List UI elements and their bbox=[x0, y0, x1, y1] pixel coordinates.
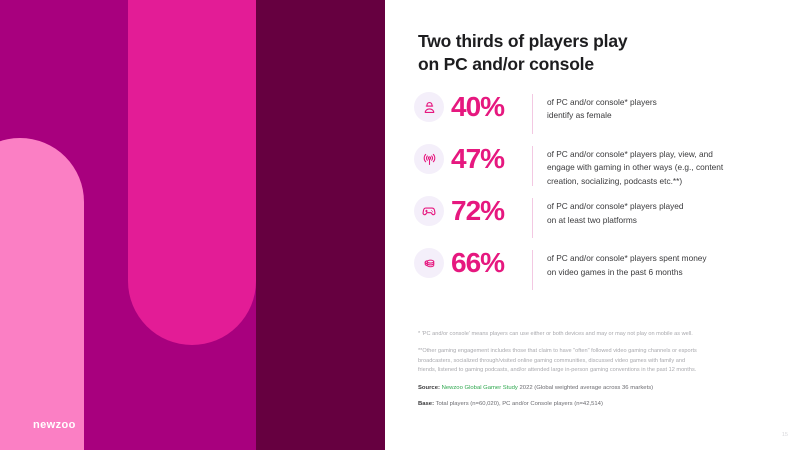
base-detail: Total players (n=60,020), PC and/or Cons… bbox=[436, 401, 603, 407]
page-number: 15 bbox=[782, 432, 788, 438]
stat-value-group: 47% bbox=[414, 144, 532, 174]
base-line: Base: Total players (n=60,020), PC and/o… bbox=[418, 399, 790, 409]
stat-description-line-1: of PC and/or console* players played bbox=[547, 200, 784, 213]
footnote-asterisk: * 'PC and/or console' means players can … bbox=[418, 330, 790, 340]
art-band-plum bbox=[256, 0, 385, 450]
source-line: Source: Newzoo Global Gamer Study 2022 (… bbox=[418, 383, 790, 393]
stat-description-line-2: identify as female bbox=[547, 109, 784, 122]
newzoo-logo: newzoo bbox=[33, 419, 76, 431]
stat-description-line-1: of PC and/or console* players spent mone… bbox=[547, 252, 784, 265]
stat-description: of PC and/or console* players played on … bbox=[547, 196, 784, 227]
stat-divider bbox=[532, 146, 533, 186]
source-detail: 2022 (Global weighted average across 36 … bbox=[520, 385, 654, 391]
stat-description: of PC and/or console* players identify a… bbox=[547, 92, 784, 123]
stat-list: 40% of PC and/or console* players identi… bbox=[414, 92, 784, 292]
female-player-icon bbox=[414, 92, 444, 122]
page-title: Two thirds of players play on PC and/or … bbox=[418, 30, 773, 77]
content-panel: Two thirds of players play on PC and/or … bbox=[385, 0, 800, 450]
source-link[interactable]: Newzoo Global Gamer Study bbox=[442, 385, 518, 391]
stat-row: 47% of PC and/or console* players play, … bbox=[414, 144, 784, 188]
stat-value-group: 72% bbox=[414, 196, 532, 226]
page-title-line-1: Two thirds of players play bbox=[418, 30, 773, 53]
decorative-artwork: newzoo bbox=[0, 0, 385, 450]
stat-description-line-2: on at least two platforms bbox=[547, 214, 784, 227]
stat-description-line-2: engage with gaming in other ways (e.g., … bbox=[547, 161, 784, 174]
stat-value: 40% bbox=[451, 93, 504, 121]
art-pill-bright-shape bbox=[128, 0, 256, 345]
base-label: Base: bbox=[418, 401, 434, 407]
page-title-line-2: on PC and/or console bbox=[418, 53, 773, 76]
source-label: Source: bbox=[418, 385, 440, 391]
slide: newzoo Two thirds of players play on PC … bbox=[0, 0, 800, 450]
stat-description-line-3: creation, socializing, podcasts etc.**) bbox=[547, 175, 784, 188]
stat-row: 72% of PC and/or console* players played… bbox=[414, 196, 784, 240]
stat-description-line-2: on video games in the past 6 months bbox=[547, 266, 784, 279]
stat-divider bbox=[532, 94, 533, 134]
coins-icon bbox=[414, 248, 444, 278]
stat-value: 47% bbox=[451, 145, 504, 173]
stat-divider bbox=[532, 250, 533, 290]
stat-description: of PC and/or console* players spent mone… bbox=[547, 248, 784, 279]
stat-row: 66% of PC and/or console* players spent … bbox=[414, 248, 784, 292]
gamepad-icon bbox=[414, 196, 444, 226]
stat-value: 66% bbox=[451, 249, 504, 277]
stat-description-line-1: of PC and/or console* players play, view… bbox=[547, 148, 784, 161]
art-pill-light-shape bbox=[0, 138, 84, 450]
stat-divider bbox=[532, 198, 533, 238]
broadcast-icon bbox=[414, 144, 444, 174]
stat-value-group: 40% bbox=[414, 92, 532, 122]
footnotes: * 'PC and/or console' means players can … bbox=[418, 330, 790, 409]
stat-value: 72% bbox=[451, 197, 504, 225]
stat-row: 40% of PC and/or console* players identi… bbox=[414, 92, 784, 136]
footnote-double-asterisk: **Other gaming engagement includes those… bbox=[418, 347, 790, 376]
stat-description: of PC and/or console* players play, view… bbox=[547, 144, 784, 188]
footnote-double-asterisk-line-2: broadcasters, socialized through/visited… bbox=[418, 357, 790, 367]
footnote-double-asterisk-line-1: **Other gaming engagement includes those… bbox=[418, 347, 790, 357]
footnote-double-asterisk-line-3: friends, listened to gaming podcasts, an… bbox=[418, 366, 790, 376]
stat-description-line-1: of PC and/or console* players bbox=[547, 96, 784, 109]
stat-value-group: 66% bbox=[414, 248, 532, 278]
